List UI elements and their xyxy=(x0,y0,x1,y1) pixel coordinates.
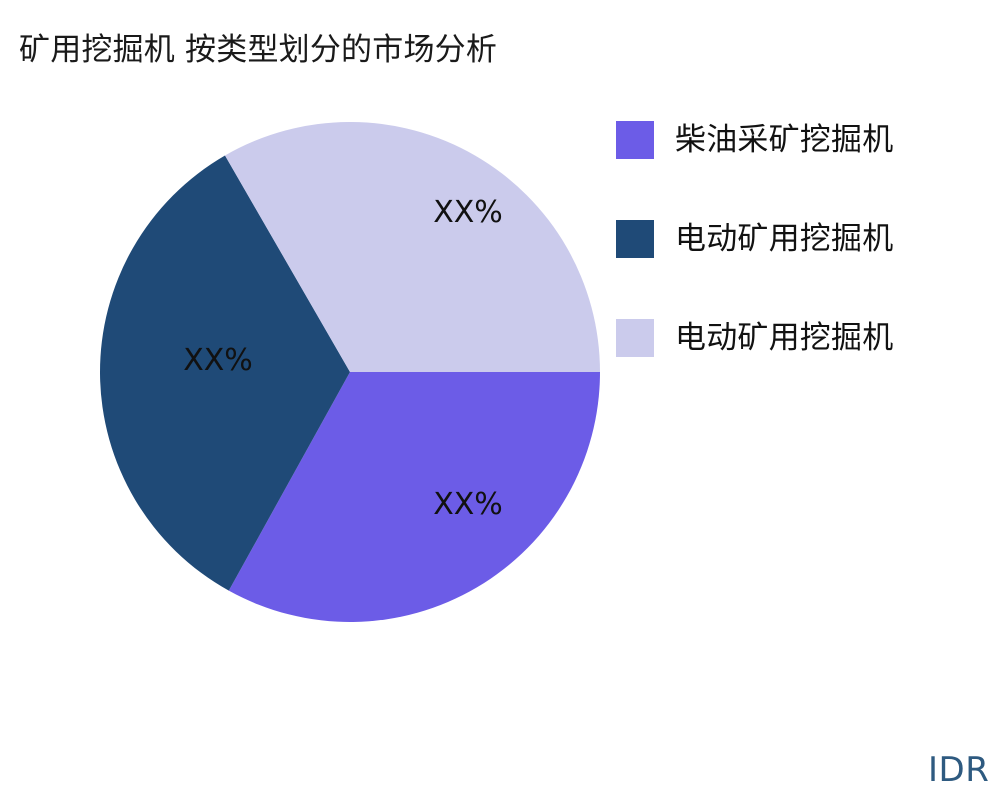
legend-swatch-electric-navy xyxy=(616,220,654,258)
page-title: 矿用挖掘机 按类型划分的市场分析 xyxy=(19,30,497,70)
watermark-idr: IDR xyxy=(928,750,989,790)
pie-chart-area: XX%XX%XX% xyxy=(100,122,600,622)
legend-label-1: 电动矿用挖掘机 xyxy=(675,220,893,258)
pie-slice-label-1: XX% xyxy=(183,343,253,378)
pie-svg: XX%XX%XX% xyxy=(100,122,600,622)
pie-chart-figure: 矿用挖掘机 按类型划分的市场分析 XX%XX%XX% 柴油采矿挖掘机电动矿用挖掘… xyxy=(0,0,1000,800)
legend: 柴油采矿挖掘机电动矿用挖掘机电动矿用挖掘机 xyxy=(616,121,986,357)
legend-swatch-electric-lavender xyxy=(616,319,654,357)
legend-item-1[interactable]: 电动矿用挖掘机 xyxy=(616,220,986,258)
pie-slice-label-0: XX% xyxy=(433,487,503,522)
legend-swatch-diesel xyxy=(616,121,654,159)
legend-item-2[interactable]: 电动矿用挖掘机 xyxy=(616,319,986,357)
pie-slice-group xyxy=(100,122,600,622)
legend-label-2: 电动矿用挖掘机 xyxy=(675,319,893,357)
legend-label-0: 柴油采矿挖掘机 xyxy=(675,121,893,159)
pie-slice-label-2: XX% xyxy=(433,195,503,230)
legend-item-0[interactable]: 柴油采矿挖掘机 xyxy=(616,121,986,159)
